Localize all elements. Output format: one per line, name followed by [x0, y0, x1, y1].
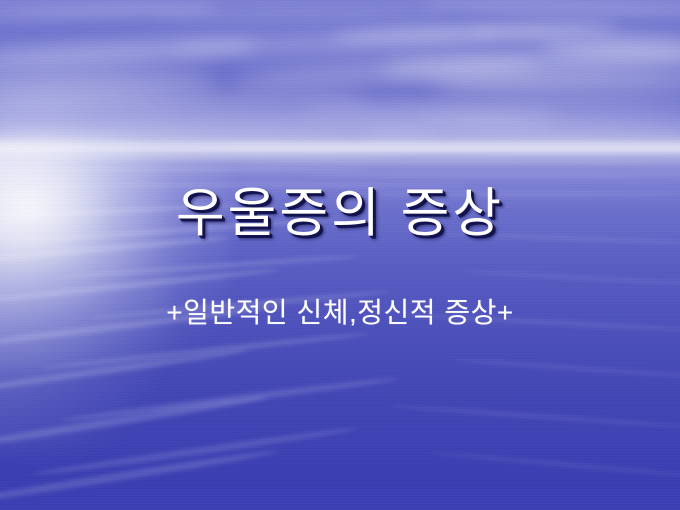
slide-title: 우울증의 증상 — [0, 182, 680, 246]
slide-text-layer: 우울증의 증상 +일반적인 신체,정신적 증상+ — [0, 0, 680, 510]
slide-subtitle: +일반적인 신체,정신적 증상+ — [0, 295, 680, 331]
presentation-slide: 우울증의 증상 +일반적인 신체,정신적 증상+ — [0, 0, 680, 510]
